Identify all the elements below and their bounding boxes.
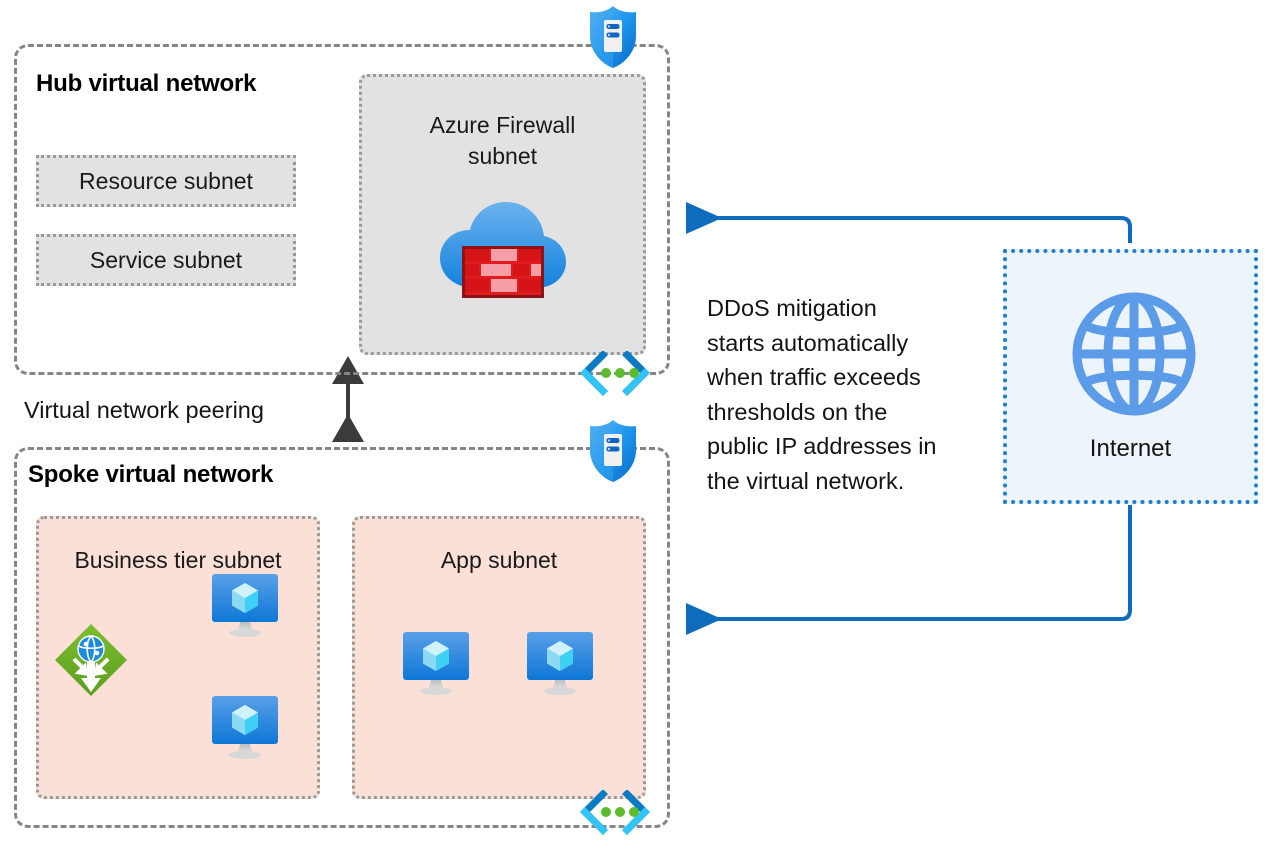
internet-box[interactable]: Internet [1003, 249, 1258, 504]
virtual-machine-icon-business-2 [208, 694, 282, 760]
internet-label: Internet [1007, 435, 1254, 463]
vnet-peering-icon-spoke [577, 790, 653, 836]
app-subnet-label: App subnet [355, 545, 643, 576]
spoke-virtual-network-title: Spoke virtual network [28, 461, 273, 489]
connector-internet-to-spoke [688, 505, 1130, 619]
app-subnet-box[interactable]: App subnet [352, 516, 646, 799]
ddos-protection-shield-icon-hub [586, 4, 640, 70]
globe-icon [1069, 289, 1199, 419]
virtual-network-peering-label: Virtual network peering [24, 397, 264, 424]
service-subnet-box[interactable]: Service subnet [36, 234, 296, 286]
hub-virtual-network-title: Hub virtual network [36, 70, 256, 98]
load-balancer-icon [53, 622, 129, 698]
virtual-machine-icon-app-1 [399, 630, 473, 696]
ddos-protection-shield-icon-spoke [586, 418, 640, 484]
resource-subnet-label: Resource subnet [79, 168, 253, 195]
connector-internet-to-hub [688, 218, 1130, 243]
diagram-canvas: Hub virtual network Resource subnet Serv… [0, 0, 1265, 849]
resource-subnet-box[interactable]: Resource subnet [36, 155, 296, 207]
service-subnet-label: Service subnet [90, 247, 242, 274]
azure-firewall-icon [432, 196, 572, 306]
business-tier-subnet-label: Business tier subnet [39, 545, 317, 576]
virtual-machine-icon-app-2 [523, 630, 597, 696]
ddos-mitigation-note: DDoS mitigation starts automatically whe… [707, 291, 977, 498]
virtual-machine-icon-business-1 [208, 572, 282, 638]
azure-firewall-subnet-label: Azure Firewall subnet [362, 110, 643, 171]
vnet-peering-icon-hub [577, 351, 653, 397]
